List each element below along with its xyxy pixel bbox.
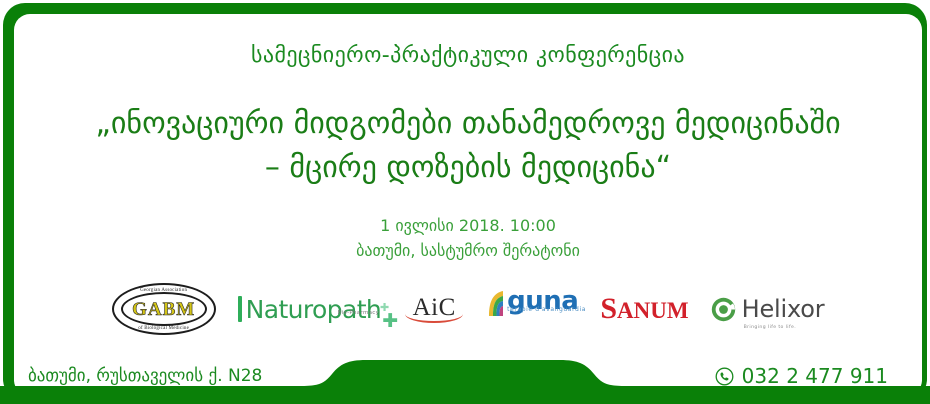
footer-phone: 032 2 477 911 bbox=[715, 364, 888, 388]
conference-venue: ბათუმი, სასტუმრო შერატონი bbox=[14, 238, 922, 263]
sponsor-logo-gabm: Georgian Association GABM of Biological … bbox=[112, 283, 216, 335]
sponsor-logo-helixor: Helixor Bringing life to life. bbox=[711, 289, 825, 329]
guna-tagline: terapie d'avanguardia bbox=[507, 297, 586, 323]
helixor-wordmark-text: Helixor bbox=[742, 295, 825, 323]
medical-cross-icon: ✚ bbox=[382, 312, 398, 331]
spiral-circle-icon bbox=[711, 297, 736, 322]
conference-subtitle: სამეცნიერო-პრაქტიკული კონფერენცია bbox=[14, 43, 922, 68]
phone-in-circle-icon bbox=[715, 367, 734, 386]
conference-title-line-2: – მცირე დოზების მედიცინა“ bbox=[38, 146, 898, 190]
footer-phone-number: 032 2 477 911 bbox=[742, 364, 888, 388]
sponsor-logo-aic: AiC bbox=[403, 289, 465, 329]
footer-address: ბათუმი, რუსთაველის ქ. N28 bbox=[28, 366, 262, 386]
medical-cross-small-icon: ✚ bbox=[380, 302, 389, 313]
naturopath-wordmark: Naturopath bbox=[246, 295, 382, 324]
helixor-wordmark: Helixor Bringing life to life. bbox=[742, 295, 825, 323]
sanum-initial: S bbox=[600, 292, 617, 325]
conference-title: „ინოვაციური მიდგომები თანამედროვე მედიცი… bbox=[38, 102, 898, 190]
banner-content: სამეცნიერო-პრაქტიკული კონფერენცია „ინოვა… bbox=[14, 14, 922, 396]
rainbow-wave-icon bbox=[487, 290, 504, 316]
conference-date: 1 ივლისი 2018. 10:00 bbox=[14, 213, 922, 238]
sponsor-logo-naturopath: Naturopath ✚ ✚ Bio-Pharmacy bbox=[238, 287, 382, 331]
gabm-arc-bottom-text: of Biological Medicine bbox=[112, 326, 216, 331]
banner-green-frame: სამეცნიერო-პრაქტიკული კონფერენცია „ინოვა… bbox=[3, 3, 927, 401]
sponsor-logo-sanum: SANUM bbox=[600, 294, 688, 324]
conference-meta: 1 ივლისი 2018. 10:00 ბათუმი, სასტუმრო შე… bbox=[14, 213, 922, 263]
sanum-wordmark: ANUM bbox=[617, 298, 689, 323]
banner-inner-panel: სამეცნიერო-პრაქტიკული კონფერენცია „ინოვა… bbox=[14, 14, 922, 396]
naturopath-bar-icon bbox=[238, 296, 242, 322]
naturopath-tagline: Bio-Pharmacy bbox=[337, 310, 379, 316]
sponsor-logo-guna: guna terapie d'avanguardia bbox=[487, 288, 578, 330]
gabm-wordmark: GABM bbox=[112, 299, 216, 321]
helixor-tagline: Bringing life to life. bbox=[744, 325, 797, 330]
sponsor-logo-strip: Georgian Association GABM of Biological … bbox=[14, 278, 922, 340]
conference-title-line-1: „ინოვაციური მიდგომები თანამედროვე მედიცი… bbox=[38, 102, 898, 146]
guna-wordmark: guna terapie d'avanguardia bbox=[507, 288, 578, 314]
conference-banner: სამეცნიერო-პრაქტიკული კონფერენცია „ინოვა… bbox=[0, 0, 930, 404]
gabm-arc-top-text: Georgian Association bbox=[112, 288, 216, 293]
